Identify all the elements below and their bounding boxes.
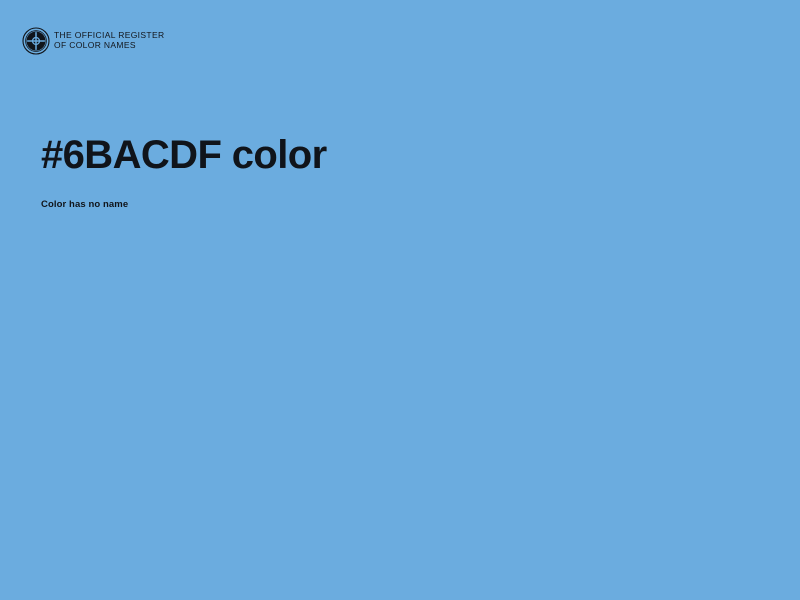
brand-title-line-2: OF COLOR NAMES — [54, 41, 164, 51]
color-page: THE OFFICIAL REGISTER OF COLOR NAMES #6B… — [0, 0, 800, 600]
brand-title: THE OFFICIAL REGISTER OF COLOR NAMES — [54, 31, 164, 51]
brand-header[interactable]: THE OFFICIAL REGISTER OF COLOR NAMES — [22, 27, 164, 55]
color-name-status: Color has no name — [41, 199, 128, 211]
official-register-seal-icon — [22, 27, 50, 55]
page-title: #6BACDF color — [41, 131, 327, 179]
